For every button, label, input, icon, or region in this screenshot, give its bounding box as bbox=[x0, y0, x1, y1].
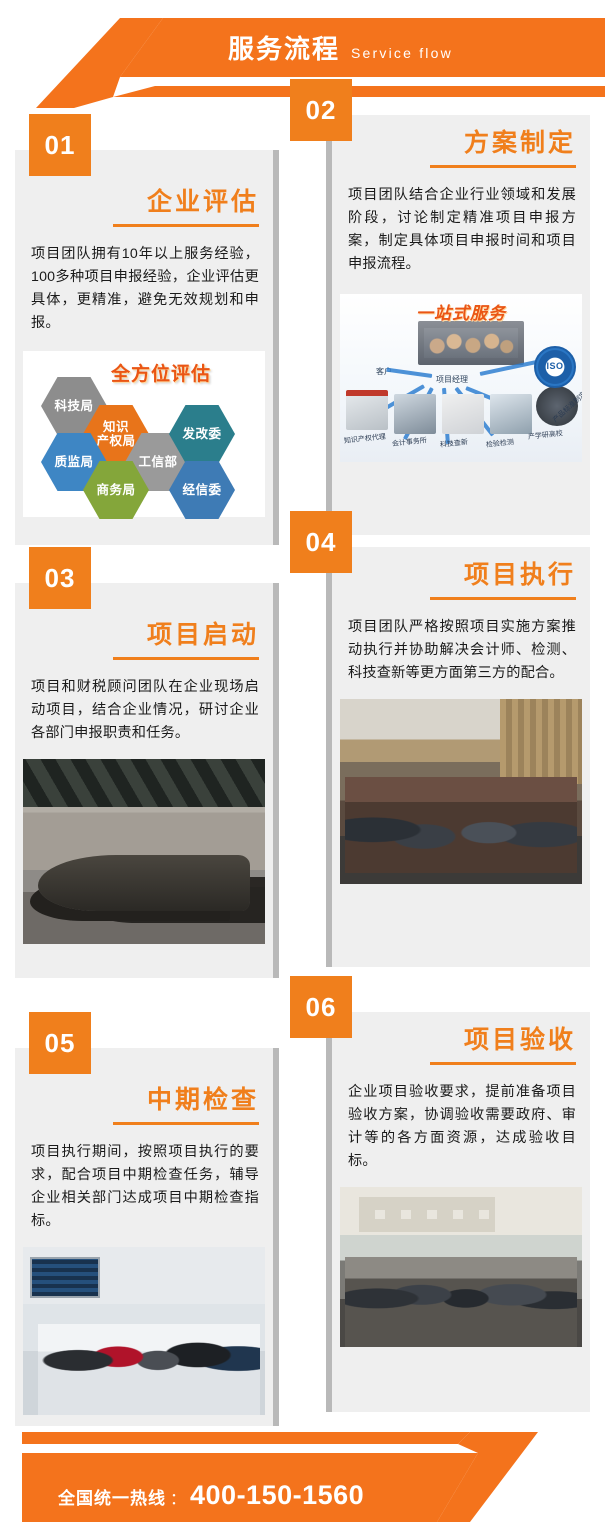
card-number-badge: 03 bbox=[29, 547, 91, 609]
card-shadow-bar bbox=[273, 583, 279, 978]
card-body-text: 项目和财税顾问团队在企业现场启动项目，结合企业情况，研讨企业各部门申报职责和任务… bbox=[15, 660, 273, 759]
card-shadow-bar bbox=[326, 547, 332, 967]
onestop-node-project-manager: 项目经理 bbox=[436, 374, 468, 385]
hotline-number[interactable]: 400-150-1560 bbox=[190, 1480, 364, 1511]
hotline-colon: ： bbox=[170, 1485, 186, 1509]
hotline-label: 全国统一热线 bbox=[58, 1484, 166, 1509]
onestop-label-1: 知识产权代理 bbox=[343, 432, 386, 446]
service-flow-infographic: 服务流程 Service flow 01 企业评估 项目团队拥有10年以上服务经… bbox=[0, 0, 605, 1538]
onestop-label-3: 科技查新 bbox=[439, 437, 468, 450]
card-number-badge: 01 bbox=[29, 114, 91, 176]
onestop-hub-photo bbox=[418, 321, 524, 365]
photo-conference-table bbox=[340, 699, 582, 884]
card-body-text: 项目执行期间，按照项目执行的要求，配合项目中期检查任务，辅导企业相关部门达成项目… bbox=[15, 1125, 273, 1247]
photo-meeting-room bbox=[23, 759, 265, 944]
card-title: 项目启动 bbox=[15, 623, 273, 648]
photo-boardroom bbox=[340, 1187, 582, 1347]
onestop-arrow bbox=[386, 368, 432, 378]
card-02[interactable]: 02 方案制定 项目团队结合企业行业领域和发展阶段，讨论制定精准项目申报方案，制… bbox=[332, 115, 590, 535]
card-03[interactable]: 03 项目启动 项目和财税顾问团队在企业现场启动项目，结合企业情况，研讨企业各部… bbox=[15, 583, 273, 978]
card-05[interactable]: 05 中期检查 项目执行期间，按照项目执行的要求，配合项目中期检查任务，辅导企业… bbox=[15, 1048, 273, 1426]
card-body-text: 企业项目验收要求，提前准备项目验收方案，协调验收需要政府、审计等的各方面资源，达… bbox=[332, 1065, 590, 1187]
card-body-text: 项目团队拥有10年以上服务经验，100多种项目申报经验，企业评估更具体，更精准，… bbox=[15, 227, 273, 349]
page-subtitle: Service flow bbox=[351, 46, 453, 60]
onestop-thumb-3 bbox=[442, 394, 484, 434]
card-number-badge: 04 bbox=[290, 511, 352, 573]
footer-band-shape bbox=[0, 1418, 605, 1538]
card-shadow-bar bbox=[326, 115, 332, 535]
card-title: 方案制定 bbox=[332, 131, 590, 156]
footer-banner: 全国统一热线 ： 400-150-1560 bbox=[0, 1418, 605, 1538]
iso-seal-icon bbox=[534, 346, 576, 388]
card-title: 项目执行 bbox=[332, 563, 590, 588]
card-body-text: 项目团队严格按照项目实施方案推动执行并协助解决会计师、检测、科技查新等更方面第三… bbox=[332, 600, 590, 699]
photo-showroom-visit bbox=[23, 1247, 265, 1415]
card-title: 中期检查 bbox=[15, 1088, 273, 1113]
card-body-text: 项目团队结合企业行业领域和发展阶段，讨论制定精准项目申报方案，制定具体项目申报时… bbox=[332, 168, 590, 290]
display-screen bbox=[437, 1257, 490, 1289]
card-04[interactable]: 04 项目执行 项目团队严格按照项目实施方案推动执行并协助解决会计师、检测、科技… bbox=[332, 547, 590, 967]
card-title: 企业评估 bbox=[15, 190, 273, 215]
onestop-label-5: 产学研高校 bbox=[527, 428, 563, 442]
card-06[interactable]: 06 项目验收 企业项目验收要求，提前准备项目验收方案，协调验收需要政府、审计等… bbox=[332, 1012, 590, 1412]
card-number-badge: 02 bbox=[290, 79, 352, 141]
onestop-title: 一站式服务 bbox=[340, 299, 582, 324]
onestop-label-4: 检验检测 bbox=[485, 437, 514, 450]
hex-diagram: 全方位评估 科技局 知识产权局 质监局 工信部 商务局 发改委 经信委 bbox=[23, 351, 265, 517]
card-shadow-bar bbox=[273, 1048, 279, 1426]
onestop-thumb-2 bbox=[394, 394, 436, 434]
onestop-thumb-1 bbox=[346, 390, 388, 430]
card-number-badge: 06 bbox=[290, 976, 352, 1038]
onestop-diagram: 一站式服务 客户 项目经理 知识产权代理 会计事务所 科技查新 检验检测 产学研… bbox=[340, 294, 582, 462]
onestop-label-2: 会计事务所 bbox=[391, 435, 427, 449]
card-01[interactable]: 01 企业评估 项目团队拥有10年以上服务经验，100多种项目申报经验，企业评估… bbox=[15, 150, 273, 545]
page-title: 服务流程 bbox=[228, 36, 340, 62]
card-shadow-bar bbox=[326, 1012, 332, 1412]
card-shadow-bar bbox=[273, 150, 279, 545]
hex-diagram-title: 全方位评估 bbox=[111, 359, 211, 386]
card-title: 项目验收 bbox=[332, 1028, 590, 1053]
card-number-badge: 05 bbox=[29, 1012, 91, 1074]
onestop-thumb-4 bbox=[490, 394, 532, 434]
